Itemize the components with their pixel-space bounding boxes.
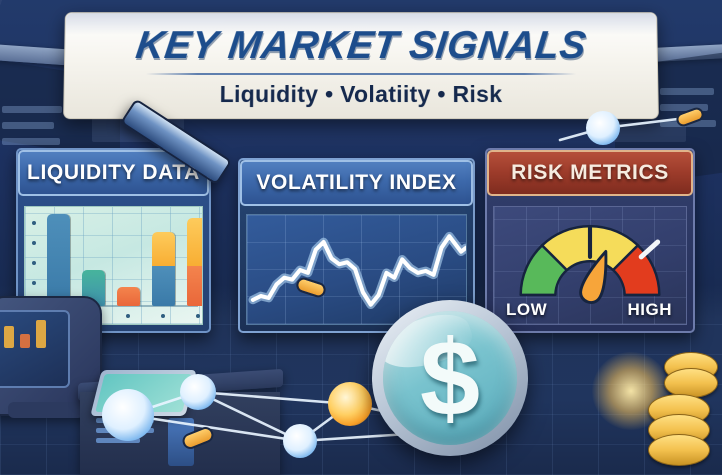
network-node-topright <box>586 111 620 145</box>
wall-slat-3 <box>2 138 60 145</box>
risk-needle-svg <box>494 209 686 313</box>
gauge-label-high: HIGH <box>628 300 673 320</box>
bar-1 <box>47 214 70 306</box>
gauge-needle <box>578 248 616 306</box>
magnifier[interactable]: $ <box>372 300 528 456</box>
x-axis-dot <box>126 314 130 318</box>
bar-5-seg-yellow <box>187 218 203 266</box>
bar-3 <box>117 287 140 306</box>
wall-slat-2 <box>2 122 54 129</box>
y-axis-dot <box>32 261 36 265</box>
wall-slat-1 <box>2 106 62 113</box>
page-title: KEY MARKET SIGNALS <box>133 24 588 68</box>
bar-4-seg-yellow <box>152 232 175 266</box>
y-axis-dot <box>32 241 36 245</box>
coin-stack-bottom <box>648 434 710 466</box>
bar-5 <box>187 218 203 306</box>
network-node-mid <box>283 424 317 458</box>
bar-5-seg-orange <box>187 266 203 306</box>
bar-4 <box>152 232 175 306</box>
panel-volatility-heading: VOLATILITY INDEX <box>240 160 473 206</box>
dollar-sign-icon: $ <box>383 311 517 445</box>
page-subtitle: Liquidity • Volatiity • Risk <box>220 81 503 108</box>
x-axis-dot <box>161 314 165 318</box>
y-axis-dot <box>32 221 36 225</box>
monitor-screen <box>0 310 70 388</box>
wall-slat-4 <box>660 88 714 95</box>
magnifier-lens: $ <box>383 311 517 445</box>
network-node-upper <box>180 374 216 410</box>
infographic-canvas: KEY MARKET SIGNALS Liquidity • Volatiity… <box>0 0 722 475</box>
network-node-gold <box>328 382 372 426</box>
monitor-screen-bar-a <box>4 326 14 348</box>
monitor-screen-bar-b <box>20 334 30 348</box>
x-axis-dot <box>196 314 200 318</box>
title-divider <box>146 72 576 74</box>
y-axis-dot <box>32 281 36 285</box>
monitor-stand <box>8 402 84 418</box>
bar-4-seg-blue <box>152 266 175 306</box>
monitor-screen-bar-c <box>36 320 46 348</box>
network-node-hub <box>102 389 154 441</box>
panel-risk-heading: RISK METRICS <box>487 150 693 196</box>
title-banner: KEY MARKET SIGNALS Liquidity • Volatiity… <box>63 12 659 119</box>
